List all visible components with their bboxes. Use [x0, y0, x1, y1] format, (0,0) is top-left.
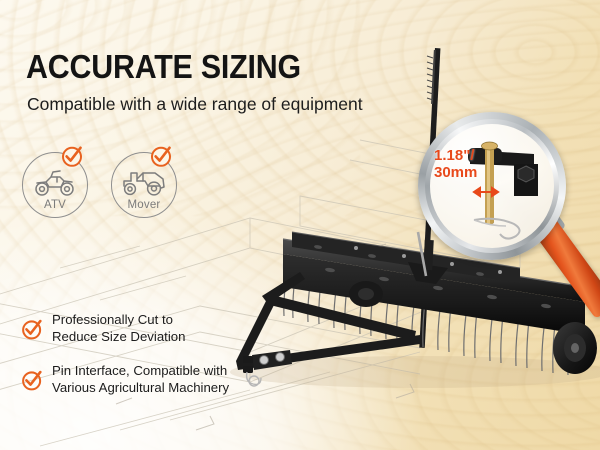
- equipment-badge-group: ATV Mover: [22, 152, 177, 218]
- product-banner: ACCURATE SIZING Compatible with a wide r…: [0, 0, 600, 450]
- list-item: Professionally Cut to Reduce Size Deviat…: [20, 312, 270, 346]
- feature-text: Professionally Cut to Reduce Size Deviat…: [52, 312, 185, 346]
- hitch-pin-detail: [430, 124, 554, 248]
- equipment-badge-atv: ATV: [22, 152, 88, 218]
- magnifier-lens: [430, 124, 554, 248]
- orange-check-icon: [20, 317, 44, 341]
- feature-list: Professionally Cut to Reduce Size Deviat…: [20, 312, 270, 414]
- equipment-badge-label: ATV: [22, 199, 88, 211]
- equipment-badge-mower: Mover: [111, 152, 177, 218]
- list-item: Pin Interface, Compatible with Various A…: [20, 363, 270, 397]
- dimension-label: 1.18"/ 30mm: [434, 148, 477, 182]
- mower-icon: [121, 169, 167, 197]
- atv-icon: [33, 169, 77, 197]
- equipment-badge-label: Mover: [111, 199, 177, 211]
- page-title: ACCURATE SIZING: [26, 50, 301, 83]
- magnifier-icon: 1.18"/ 30mm: [418, 112, 566, 260]
- orange-check-icon: [148, 143, 174, 169]
- orange-check-icon: [20, 368, 44, 392]
- feature-text: Pin Interface, Compatible with Various A…: [52, 363, 229, 397]
- orange-check-icon: [59, 143, 85, 169]
- page-subtitle: Compatible with a wide range of equipmen…: [27, 94, 363, 115]
